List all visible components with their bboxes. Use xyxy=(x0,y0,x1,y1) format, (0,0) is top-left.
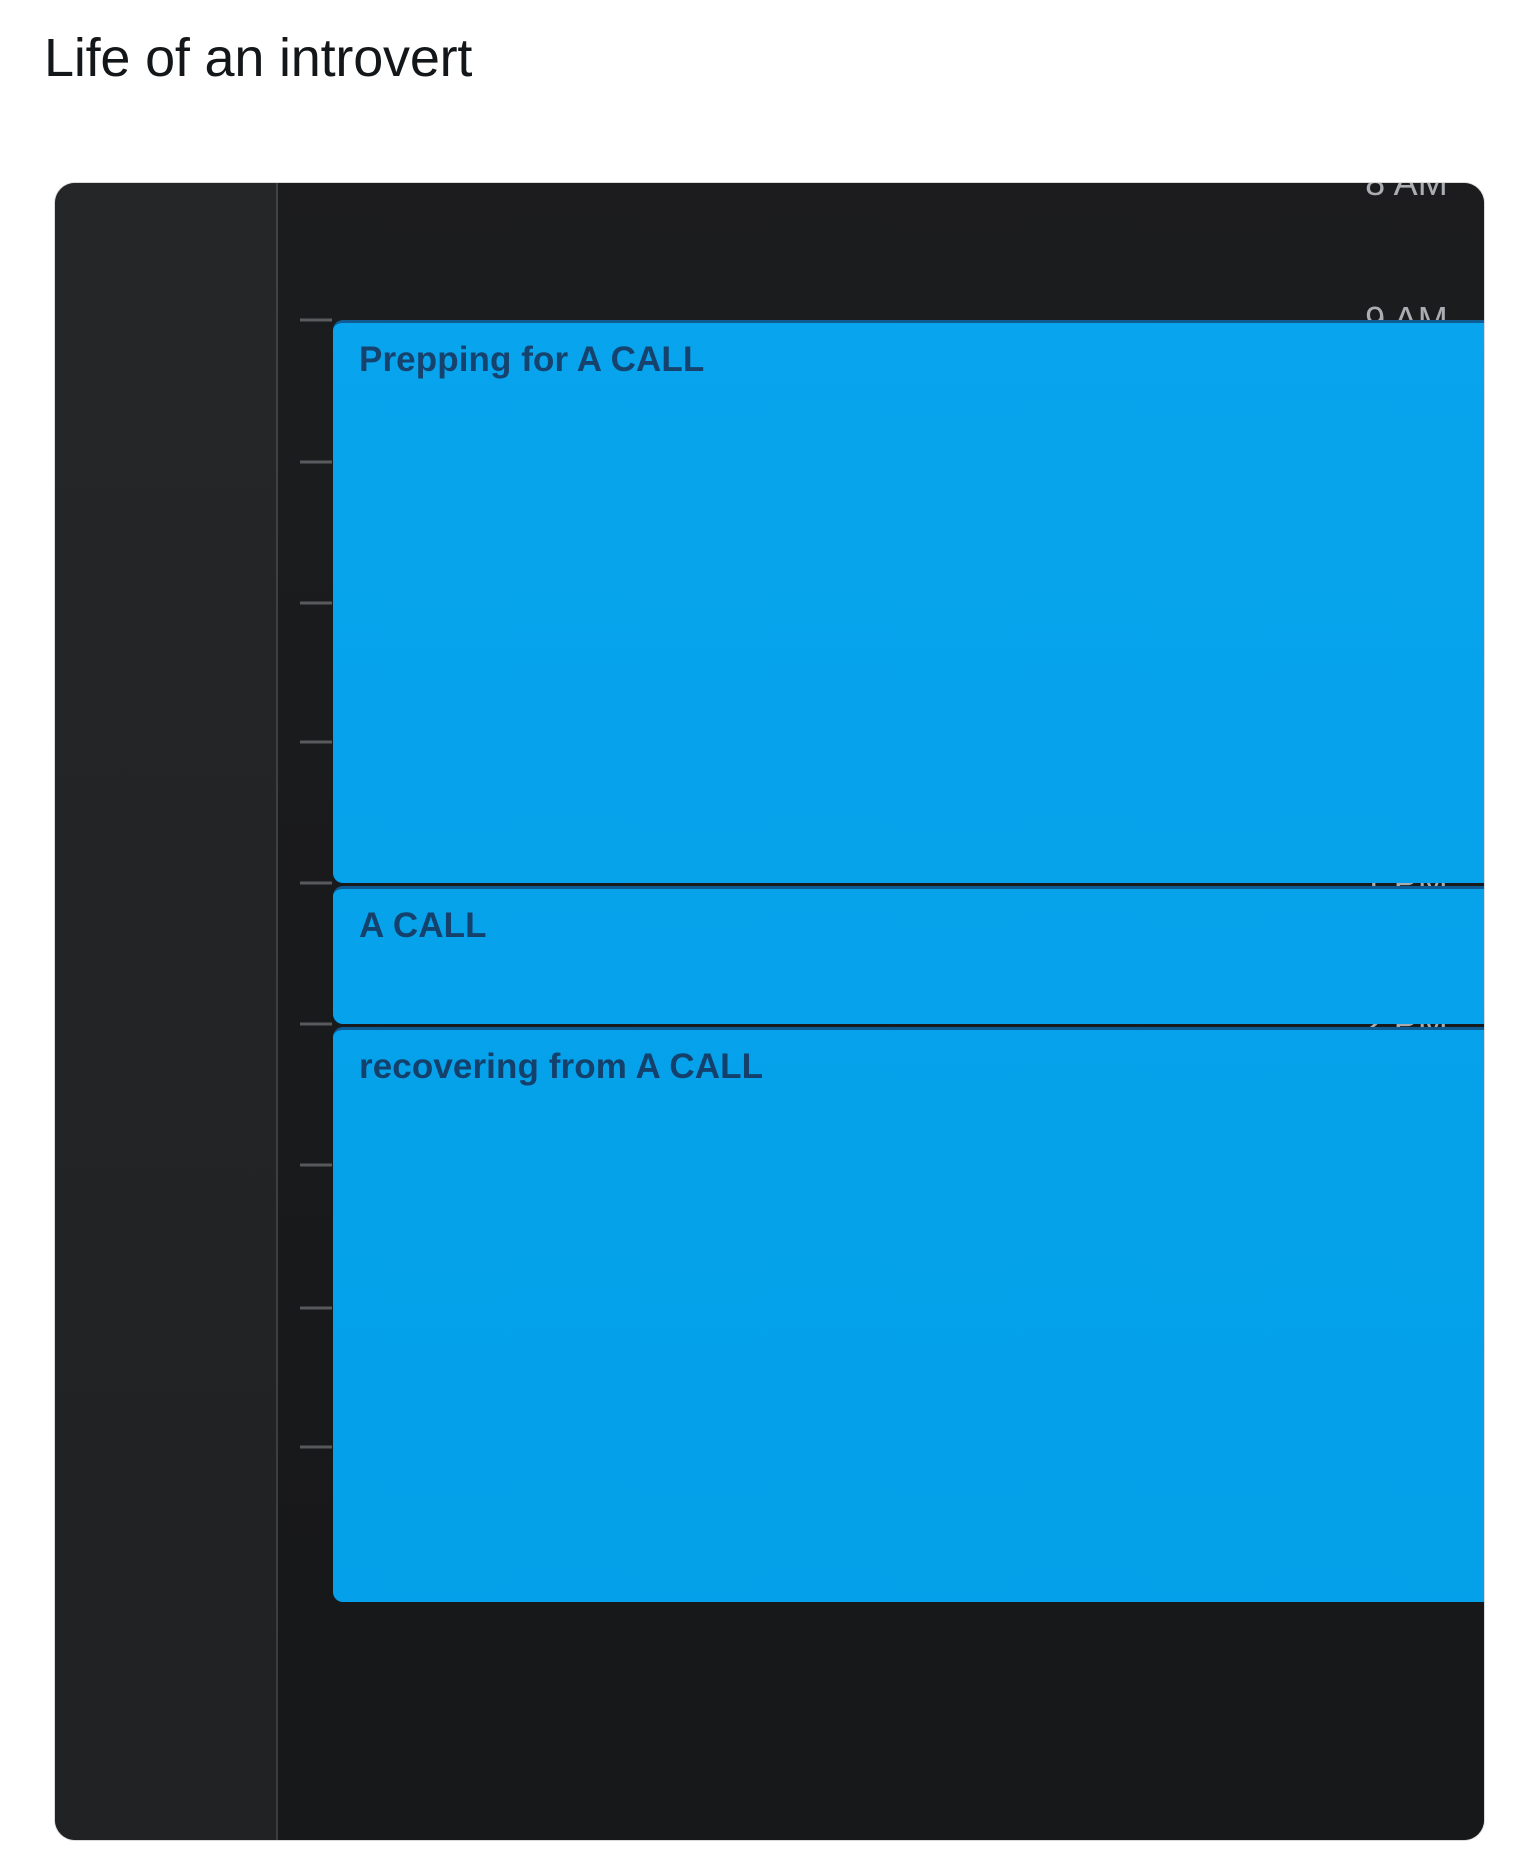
calendar-event[interactable]: recovering from A CALL xyxy=(333,1027,1484,1602)
calendar-event-title: recovering from A CALL xyxy=(359,1047,1484,1087)
hour-tick xyxy=(300,1023,332,1026)
hour-tick xyxy=(300,602,332,605)
calendar-event-title: Prepping for A CALL xyxy=(359,340,1484,380)
gutter-divider xyxy=(276,183,278,1840)
calendar-event[interactable]: A CALL xyxy=(333,886,1484,1024)
calendar-day-view: 8 AM9 AM10 AM11 AM12 PM1 PM2 PM3 PM4 PM5… xyxy=(55,183,1484,1840)
hour-tick xyxy=(300,882,332,885)
hour-tick xyxy=(300,1446,332,1449)
hour-tick xyxy=(300,741,332,744)
hour-tick xyxy=(300,1307,332,1310)
calendar-event[interactable]: Prepping for A CALL xyxy=(333,320,1484,883)
time-gutter xyxy=(55,183,276,1840)
page-title: Life of an introvert xyxy=(44,26,472,90)
calendar-event-title: A CALL xyxy=(359,906,1484,946)
hour-label: 8 AM xyxy=(1365,183,1448,204)
hour-tick xyxy=(300,319,332,322)
hour-tick xyxy=(300,461,332,464)
hour-tick xyxy=(300,1164,332,1167)
